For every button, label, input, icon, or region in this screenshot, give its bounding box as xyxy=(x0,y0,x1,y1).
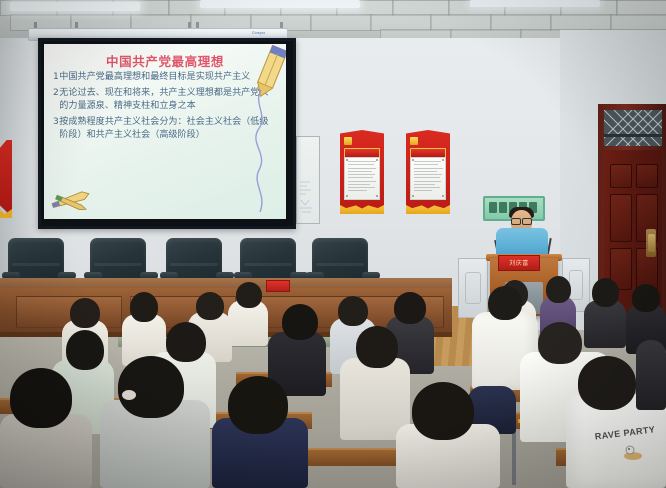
audience-head xyxy=(538,322,582,364)
audience-head xyxy=(10,368,72,428)
audience-head xyxy=(228,376,288,434)
squiggle-decoration-icon xyxy=(250,90,272,212)
tshirt-graphic-icon xyxy=(620,442,646,462)
slide-title: 中国共产党最高理想 xyxy=(44,51,286,70)
slide-bullet-2: 2 无论过去、现在和将来，共产主义理想都是共产党人的力量源泉、精神支柱和立身之本 xyxy=(53,87,277,114)
audience-head xyxy=(196,292,224,320)
audience-head xyxy=(546,276,571,303)
ceiling-light-3 xyxy=(470,0,600,7)
party-emblem-icon xyxy=(410,137,418,146)
whiteboard-writing-icon xyxy=(298,178,316,218)
door-handle[interactable] xyxy=(648,234,655,252)
audience-head xyxy=(130,292,158,322)
podium-nameplate-text: 刘庆富 xyxy=(499,258,539,267)
audience-head xyxy=(412,382,474,440)
bullet-text: 无论过去、现在和将来，共产主义理想都是共产党人的力量源泉、精神支柱和立身之本 xyxy=(59,87,277,114)
audience-head xyxy=(118,356,184,418)
ceiling-light-1 xyxy=(10,2,140,11)
audience-head xyxy=(282,304,318,340)
audience-head xyxy=(592,278,619,307)
audience-head xyxy=(488,286,522,320)
dais-name-card xyxy=(266,280,290,292)
slide-bullet-3: 3 按成熟程度共产主义社会分为：社会主义社会（低级阶段）和共产主义社会（高级阶段… xyxy=(53,116,277,143)
audience-head xyxy=(236,282,262,308)
slide: 中国共产党最高理想 1 中国共产党最高理想和最终目标是实现共产主义 2 无论过去… xyxy=(44,44,286,219)
bullet-text: 按成熟程度共产主义社会分为：社会主义社会（低级阶段）和共产主义社会（高级阶段） xyxy=(59,116,277,143)
hair-clip xyxy=(122,390,136,400)
audience-head xyxy=(356,326,398,368)
audience-head xyxy=(338,296,368,326)
poster-text-panel xyxy=(344,157,380,200)
eyeglasses-icon xyxy=(511,218,532,223)
bullet-text: 中国共产党最高理想和最终目标是实现共产主义 xyxy=(59,71,277,85)
audience-person xyxy=(584,300,626,348)
wall-banner-left xyxy=(0,140,12,218)
poster-text-panel xyxy=(410,157,446,200)
audience-head xyxy=(66,330,104,370)
slide-bullet-1: 1 中国共产党最高理想和最终目标是实现共产主义 xyxy=(53,71,277,85)
audience-head xyxy=(394,292,426,324)
audience-head xyxy=(166,322,206,362)
party-emblem-icon xyxy=(344,137,352,146)
podium-nameplate: 刘庆富 xyxy=(498,255,540,271)
slide-bullet-list: 1 中国共产党最高理想和最终目标是实现共产主义 2 无论过去、现在和将来，共产主… xyxy=(53,71,277,145)
door-transom-window xyxy=(604,110,662,146)
audience-person xyxy=(636,340,666,410)
audience-head xyxy=(632,284,660,312)
audience-head xyxy=(70,298,100,328)
speaker-cabinet-left xyxy=(458,258,488,318)
classroom-photo: Cinepro 中国共产党最高理想 1 中国共产党最高理想和最终目标是实现共产主… xyxy=(0,0,666,488)
roller-brand-label: Cinepro xyxy=(252,31,282,36)
pencils-decoration-icon xyxy=(50,187,96,213)
ceiling-light-2 xyxy=(200,0,360,8)
projection-screen[interactable]: 中国共产党最高理想 1 中国共产党最高理想和最终目标是实现共产主义 2 无论过去… xyxy=(38,38,296,229)
party-poster-left xyxy=(340,130,384,216)
audience-head xyxy=(578,356,636,410)
party-poster-right xyxy=(406,130,450,216)
lattice-icon xyxy=(604,110,662,146)
